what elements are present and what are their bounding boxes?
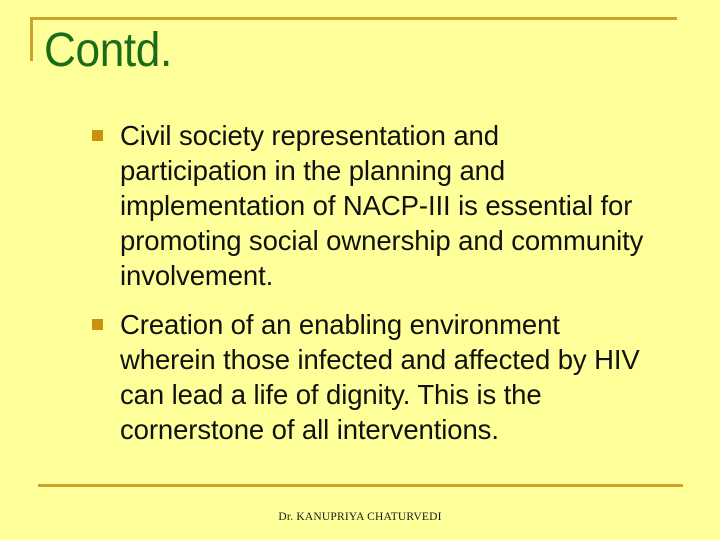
title-top-rule xyxy=(30,17,677,20)
list-item: Civil society representation and partici… xyxy=(86,118,646,293)
list-item-text: Civil society representation and partici… xyxy=(120,118,646,293)
square-bullet-icon xyxy=(92,130,103,141)
presentation-slide: Contd. Civil society representation and … xyxy=(0,0,720,540)
list-item-text: Creation of an enabling environment wher… xyxy=(120,307,646,447)
footer-rule xyxy=(38,484,683,487)
title-left-rule xyxy=(30,17,33,61)
list-item: Creation of an enabling environment wher… xyxy=(86,307,646,447)
square-bullet-icon xyxy=(92,319,103,330)
page-title: Contd. xyxy=(44,24,172,78)
bullet-list: Civil society representation and partici… xyxy=(86,118,646,447)
footer-author: Dr. KANUPRIYA CHATURVEDI xyxy=(0,510,720,524)
